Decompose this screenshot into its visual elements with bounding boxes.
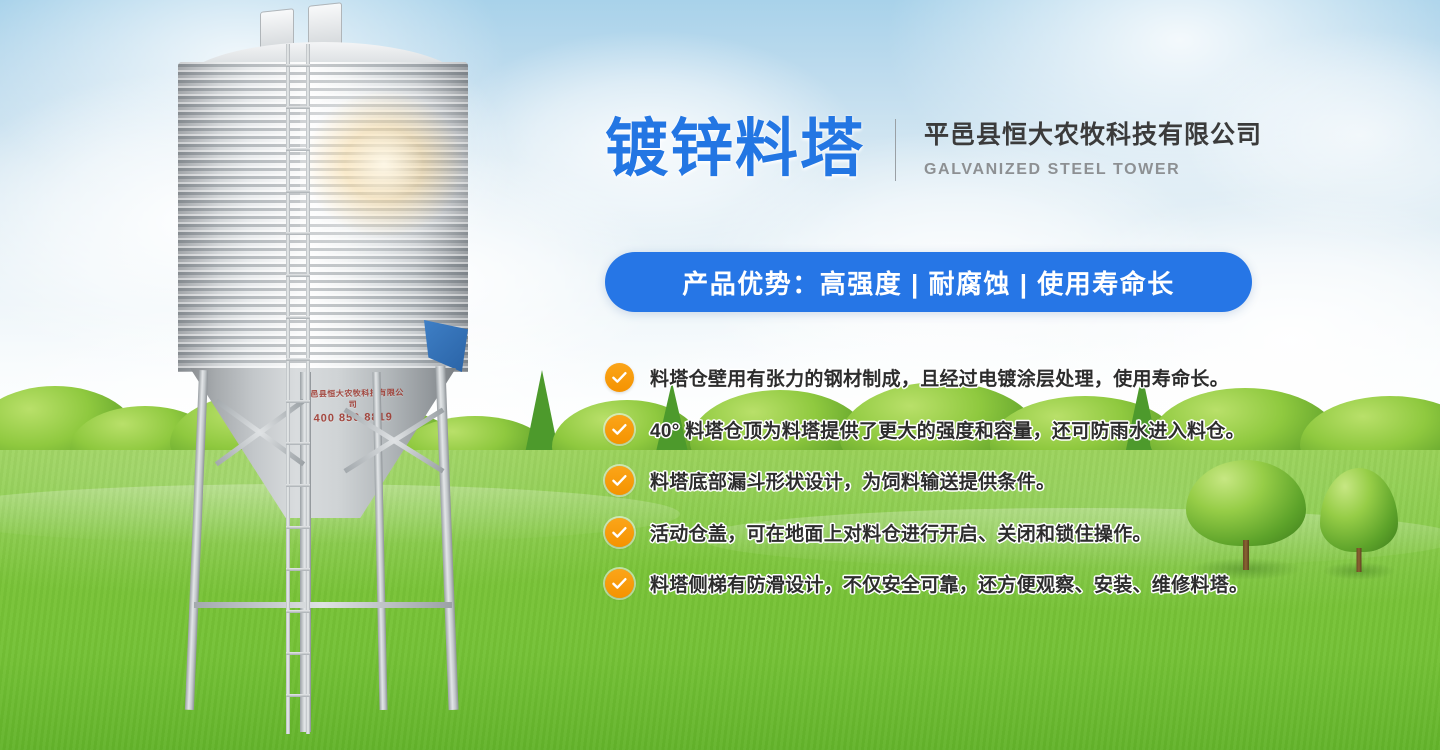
advantages-pill-label: 产品优势：高强度 | 耐腐蚀 | 使用寿命长 xyxy=(682,264,1174,301)
ladder-rung xyxy=(286,232,310,235)
foreground-tree xyxy=(1320,468,1398,572)
page-title: 镀锌料塔 xyxy=(605,118,865,181)
ladder-rung xyxy=(286,610,310,613)
ladder-rung xyxy=(286,358,310,361)
list-item: 活动仓盖，可在地面上对料仓进行开启、关闭和锁住操作。 xyxy=(605,507,1305,559)
feature-text: 料塔仓壁用有张力的钢材制成，且经过电镀涂层处理，使用寿命长。 xyxy=(650,364,1229,391)
advantages-pill: 产品优势：高强度 | 耐腐蚀 | 使用寿命长 xyxy=(605,252,1252,312)
ladder-rung xyxy=(286,106,310,109)
ladder-rung xyxy=(286,568,310,571)
ladder-rung xyxy=(286,652,310,655)
feature-text: 活动仓盖，可在地面上对料仓进行开启、关闭和锁住操作。 xyxy=(650,519,1152,546)
silo-horizontal-brace xyxy=(194,602,452,608)
ladder-rung xyxy=(286,316,310,319)
ladder-rung xyxy=(286,148,310,151)
silo-hopper-cone xyxy=(190,368,456,518)
ladder-rung xyxy=(286,400,310,403)
brand-block: 平邑县恒大农牧科技有限公司 GALVANIZED STEEL TOWER xyxy=(924,120,1262,178)
feature-list: 料塔仓壁用有张力的钢材制成，且经过电镀涂层处理，使用寿命长。 40° 料塔仓顶为… xyxy=(605,352,1305,610)
check-circle-icon xyxy=(605,363,634,392)
ladder-rung xyxy=(286,694,310,697)
silo-support-leg xyxy=(185,370,208,710)
silo-side-ladder xyxy=(286,44,310,734)
title-divider xyxy=(895,119,896,181)
check-circle-icon xyxy=(605,518,634,547)
ladder-rung xyxy=(286,442,310,445)
feature-text: 40° 料塔仓顶为料塔提供了更大的强度和容量，还可防雨水进入料仓。 xyxy=(650,416,1245,443)
ladder-rung xyxy=(286,64,310,67)
list-item: 料塔底部漏斗形状设计，为饲料输送提供条件。 xyxy=(605,455,1305,507)
headline-row: 镀锌料塔 平邑县恒大农牧科技有限公司 GALVANIZED STEEL TOWE… xyxy=(605,118,1262,181)
check-circle-icon xyxy=(605,466,634,495)
silo-support-leg xyxy=(435,366,458,710)
check-circle-icon xyxy=(605,415,634,444)
company-name: 平邑县恒大农牧科技有限公司 xyxy=(924,120,1262,151)
promo-banner: 平邑县恒大农牧科技有限公司 400 850 8819 xyxy=(0,0,1440,750)
check-circle-icon xyxy=(605,569,634,598)
ladder-rung xyxy=(286,484,310,487)
galvanized-feed-silo-photo: 平邑县恒大农牧科技有限公司 400 850 8819 xyxy=(150,0,520,740)
feature-text: 料塔侧梯有防滑设计，不仅安全可靠，还方便观察、安装、维修料塔。 xyxy=(650,570,1248,597)
list-item: 料塔仓壁用有张力的钢材制成，且经过电镀涂层处理，使用寿命长。 xyxy=(605,352,1305,404)
tree-crown xyxy=(1320,468,1398,552)
ladder-rung xyxy=(286,274,310,277)
list-item: 料塔侧梯有防滑设计，不仅安全可靠，还方便观察、安装、维修料塔。 xyxy=(605,558,1305,610)
ladder-rung xyxy=(286,190,310,193)
list-item: 40° 料塔仓顶为料塔提供了更大的强度和容量，还可防雨水进入料仓。 xyxy=(605,404,1305,456)
tree-trunk xyxy=(1357,548,1362,572)
silo-body xyxy=(178,62,468,372)
company-name-en: GALVANIZED STEEL TOWER xyxy=(924,161,1262,179)
banner-copy: 镀锌料塔 平邑县恒大农牧科技有限公司 GALVANIZED STEEL TOWE… xyxy=(605,0,1305,750)
ladder-rung xyxy=(286,526,310,529)
feature-text: 料塔底部漏斗形状设计，为饲料输送提供条件。 xyxy=(650,467,1055,494)
